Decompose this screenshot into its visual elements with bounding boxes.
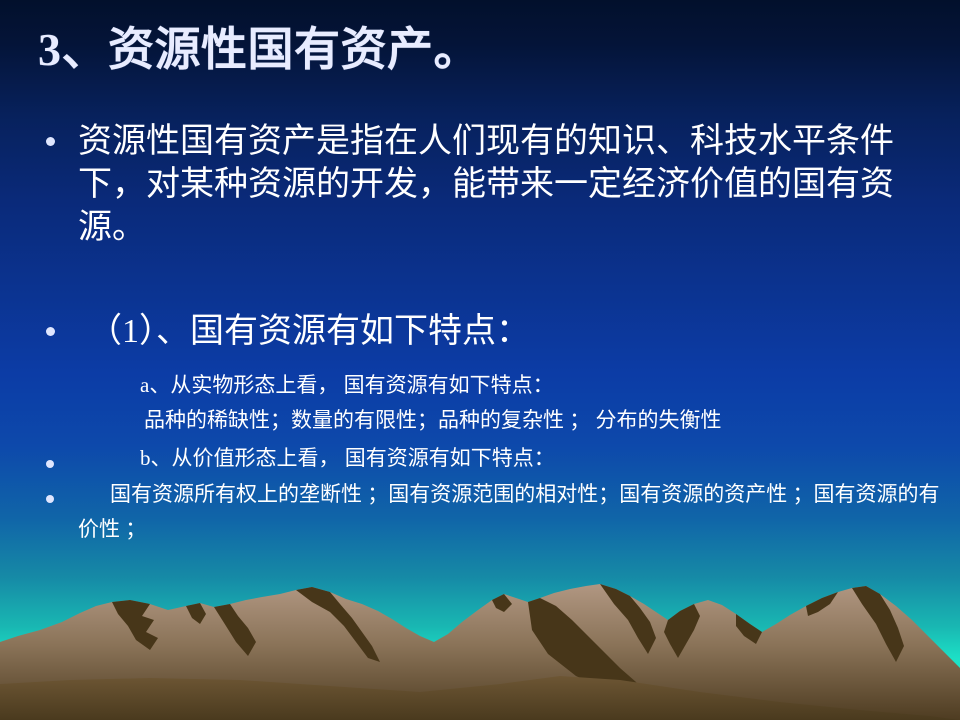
paragraph-heading-1: （1）、国有资源有如下特点： [88, 310, 530, 353]
line-a-heading-text: a、从实物形态上看， 国有资源有如下特点： [140, 373, 554, 397]
line-b-heading-text: b、从价值形态上看， 国有资源有如下特点： [140, 446, 555, 470]
slide-body: 资源性国有资产是指在人们现有的知识、科技水平条件下，对某种资源的开发，能带来一定… [0, 0, 960, 720]
bullet-dot-line-b-heading [46, 460, 54, 468]
line-b-heading: b、从价值形态上看， 国有资源有如下特点： [140, 441, 555, 476]
line-b-items: 国有资源所有权上的垄断性 ；国有资源范围的相对性；国有资源的资产性 ；国有资源的… [78, 477, 940, 547]
bullet-dot-line-b-items [46, 495, 54, 503]
paragraph-definition: 资源性国有资产是指在人们现有的知识、科技水平条件下，对某种资源的开发，能带来一定… [78, 120, 940, 249]
line-a-heading: a、从实物形态上看， 国有资源有如下特点： [140, 368, 554, 403]
bullet-dot-heading-1 [46, 327, 55, 336]
bullet-dot-definition [46, 137, 55, 146]
paragraph-definition-text: 资源性国有资产是指在人们现有的知识、科技水平条件下，对某种资源的开发，能带来一定… [78, 120, 940, 249]
line-b-items-text: 国有资源所有权上的垄断性 ；国有资源范围的相对性；国有资源的资产性 ；国有资源的… [78, 482, 940, 541]
presentation-slide: 3、资源性国有资产。 资源性国有资产是指在人们现有的知识、科技水平条件下，对某种… [0, 0, 960, 720]
line-a-items: 品种的稀缺性；数量的有限性；品种的复杂性 ； 分布的失衡性 [144, 403, 722, 438]
line-a-items-text: 品种的稀缺性；数量的有限性；品种的复杂性 ； 分布的失衡性 [144, 408, 722, 432]
paragraph-heading-1-text: （1）、国有资源有如下特点： [88, 313, 530, 350]
